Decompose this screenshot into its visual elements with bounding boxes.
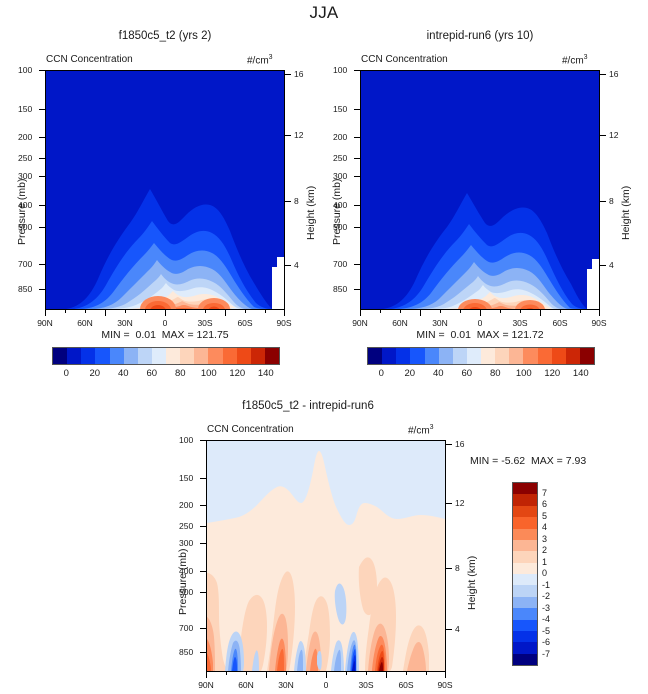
ytick-label: 150 (18, 104, 32, 114)
figure-root: JJA f1850c5_t2 (yrs 2) CCN Concentration… (0, 0, 648, 694)
axis-head-variable-top-left: CCN Concentration (46, 54, 133, 65)
colorbar-segment (110, 348, 125, 364)
colorbar-segment (180, 348, 195, 364)
colorbar-tick-label: -3 (542, 603, 550, 613)
colorbar-tick-label: 5 (542, 511, 547, 521)
contour-field-top-right (361, 71, 599, 309)
colorbar-segment (138, 348, 153, 364)
colorbar-tick-label: -7 (542, 649, 550, 659)
ytick-label: 300 (179, 538, 193, 548)
ylabel-right-diff: Height (km) (466, 556, 478, 610)
colorbar-tick-label: 80 (171, 368, 189, 379)
colorbar-segment (95, 348, 110, 364)
xtick-label: 60S (546, 318, 574, 328)
colorbar-tick-label: 60 (143, 368, 161, 379)
colorbar-tick-label: -4 (542, 614, 550, 624)
ytick-label: 250 (18, 153, 32, 163)
plot-area-top-left (45, 70, 285, 310)
ytick-label: 150 (333, 104, 347, 114)
xtick-label: 30N (272, 680, 300, 690)
colorbar-tick-label: 140 (572, 368, 590, 379)
colorbar-segment (251, 348, 266, 364)
min-value: -5.62 (501, 455, 525, 467)
colorbar-segment (552, 348, 567, 364)
colorbar-difference (512, 482, 538, 666)
colorbar-segment (81, 348, 96, 364)
panel-title-top-left: f1850c5_t2 (yrs 2) (40, 30, 290, 42)
ytick-label-right: 16 (455, 439, 464, 449)
max-label: MAX = (531, 455, 563, 467)
axis-head-units-diff: #/cm3 (408, 424, 434, 436)
ytick-label: 100 (179, 435, 193, 445)
min-value: 0.01 (451, 329, 471, 341)
colorbar-concentration-left (52, 347, 280, 365)
ytick-label-right: 8 (609, 196, 614, 206)
panel-title-diff: f1850c5_t2 - intrepid-run6 (163, 400, 453, 412)
ytick-label: 700 (18, 259, 32, 269)
minmax-top-right: MIN = 0.01 MAX = 121.72 (360, 329, 600, 341)
ytick-label: 700 (179, 623, 193, 633)
colorbar-segment (439, 348, 454, 364)
colorbar-tick-label: 40 (429, 368, 447, 379)
min-label: MIN = (416, 329, 444, 341)
ytick-label: 500 (18, 222, 32, 232)
max-value: 7.93 (566, 455, 586, 467)
contour-field-top-left (46, 71, 284, 309)
units-text: #/cm (247, 55, 269, 66)
ytick-label: 100 (18, 65, 32, 75)
colorbar-segment (166, 348, 181, 364)
axis-head-units-top-left: #/cm3 (247, 54, 273, 66)
xtick-label: 90S (270, 318, 298, 328)
ytick-label: 200 (18, 132, 32, 142)
xtick-label: 90S (585, 318, 613, 328)
ylabel-left-top-left: Pressure (mb) (16, 178, 28, 245)
axis-head-units-top-right: #/cm3 (562, 54, 588, 66)
colorbar-segment (152, 348, 167, 364)
ytick-label: 850 (179, 647, 193, 657)
colorbar-segment (368, 348, 383, 364)
colorbar-segment (237, 348, 252, 364)
ytick-label: 200 (179, 500, 193, 510)
xtick-label: 0 (466, 318, 494, 328)
ytick-label: 300 (333, 171, 347, 181)
colorbar-segment (382, 348, 397, 364)
colorbar-tick-label: 1 (542, 557, 547, 567)
colorbar-segment (208, 348, 223, 364)
ytick-label-right: 8 (294, 196, 299, 206)
ytick-label: 200 (333, 132, 347, 142)
min-label: MIN = (101, 329, 129, 341)
units-exponent: 3 (584, 54, 588, 61)
axis-head-variable-diff: CCN Concentration (207, 424, 294, 435)
max-value: 121.72 (512, 329, 544, 341)
ytick-label: 850 (18, 284, 32, 294)
colorbar-segment (467, 348, 482, 364)
xtick-label: 0 (151, 318, 179, 328)
plot-area-diff (206, 440, 446, 672)
colorbar-tick-label: -1 (542, 580, 550, 590)
min-label: MIN = (470, 455, 498, 467)
colorbar-tick-label: -6 (542, 637, 550, 647)
colorbar-segment (67, 348, 82, 364)
units-exponent: 3 (430, 424, 434, 431)
ytick-label: 700 (333, 259, 347, 269)
colorbar-tick-label: 140 (257, 368, 275, 379)
xtick-label: 90N (346, 318, 374, 328)
colorbar-segment (53, 348, 68, 364)
ytick-label: 400 (179, 566, 193, 576)
colorbar-concentration-right (367, 347, 595, 365)
ytick-label-right: 12 (455, 498, 464, 508)
colorbar-segment (223, 348, 238, 364)
ytick-label: 850 (333, 284, 347, 294)
colorbar-tick-label: 6 (542, 499, 547, 509)
colorbar-tick-label: 0 (542, 568, 547, 578)
colorbar-tick-label: 120 (543, 368, 561, 379)
xtick-label: 60N (71, 318, 99, 328)
colorbar-segment (566, 348, 581, 364)
colorbar-segment (425, 348, 440, 364)
colorbar-tick-label: 40 (114, 368, 132, 379)
colorbar-segment (523, 348, 538, 364)
min-value: 0.01 (136, 329, 156, 341)
minmax-top-left: MIN = 0.01 MAX = 121.75 (45, 329, 285, 341)
contour-field-diff (207, 441, 445, 671)
figure-title: JJA (0, 3, 648, 23)
ytick-label: 400 (18, 200, 32, 210)
colorbar-segment (453, 348, 468, 364)
ytick-label: 300 (18, 171, 32, 181)
ytick-label: 250 (333, 153, 347, 163)
ytick-label-right: 12 (609, 130, 618, 140)
colorbar-segment (396, 348, 411, 364)
ytick-label: 500 (179, 587, 193, 597)
ytick-label: 400 (333, 200, 347, 210)
xtick-label: 60N (386, 318, 414, 328)
units-text: #/cm (562, 55, 584, 66)
ylabel-left-top-right: Pressure (mb) (331, 178, 343, 245)
colorbar-segment (481, 348, 496, 364)
ytick-label-right: 8 (455, 563, 460, 573)
colorbar-segment (580, 348, 594, 364)
xtick-label: 30S (352, 680, 380, 690)
minmax-diff: MIN = -5.62 MAX = 7.93 (470, 455, 586, 467)
xtick-label: 60N (232, 680, 260, 690)
panel-title-top-right: intrepid-run6 (yrs 10) (355, 30, 605, 42)
ytick-label: 250 (179, 521, 193, 531)
ylabel-left-diff: Pressure (mb) (177, 548, 189, 615)
ytick-label: 500 (333, 222, 347, 232)
xtick-label: 60S (392, 680, 420, 690)
colorbar-segment (265, 348, 279, 364)
colorbar-tick-label: -2 (542, 591, 550, 601)
colorbar-tick-label: 0 (57, 368, 75, 379)
units-exponent: 3 (269, 54, 273, 61)
xtick-label: 0 (312, 680, 340, 690)
xtick-label: 60S (231, 318, 259, 328)
colorbar-tick-label: 2 (542, 545, 547, 555)
colorbar-tick-label: 7 (542, 488, 547, 498)
colorbar-segment (194, 348, 209, 364)
ytick-label: 100 (333, 65, 347, 75)
xtick-label: 30N (111, 318, 139, 328)
colorbar-tick-label: -5 (542, 626, 550, 636)
xtick-label: 90N (192, 680, 220, 690)
xtick-label: 30N (426, 318, 454, 328)
ytick-label-right: 16 (609, 69, 618, 79)
max-value: 121.75 (197, 329, 229, 341)
ytick-label-right: 4 (609, 260, 614, 270)
xtick-label: 90N (31, 318, 59, 328)
ytick-label-right: 4 (455, 624, 460, 634)
xtick-label: 90S (431, 680, 459, 690)
xtick-label: 30S (506, 318, 534, 328)
colorbar-tick-label: 0 (372, 368, 390, 379)
colorbar-tick-label: 20 (401, 368, 419, 379)
colorbar-tick-label: 100 (515, 368, 533, 379)
colorbar-tick-label: 3 (542, 534, 547, 544)
ylabel-right-top-right: Height (km) (620, 186, 632, 240)
axis-head-variable-top-right: CCN Concentration (361, 54, 448, 65)
ytick-label-right: 4 (294, 260, 299, 270)
ytick-label: 150 (179, 473, 193, 483)
colorbar-segment (513, 654, 537, 665)
colorbar-tick-label: 60 (458, 368, 476, 379)
colorbar-segment (124, 348, 139, 364)
colorbar-tick-label: 80 (486, 368, 504, 379)
colorbar-tick-label: 4 (542, 522, 547, 532)
ylabel-right-top-left: Height (km) (305, 186, 317, 240)
units-text: #/cm (408, 425, 430, 436)
colorbar-segment (509, 348, 524, 364)
colorbar-tick-label: 20 (86, 368, 104, 379)
colorbar-tick-label: 100 (200, 368, 218, 379)
max-label: MAX = (477, 329, 509, 341)
ytick-label-right: 12 (294, 130, 303, 140)
colorbar-tick-label: 120 (228, 368, 246, 379)
colorbar-segment (495, 348, 510, 364)
colorbar-segment (410, 348, 425, 364)
max-label: MAX = (162, 329, 194, 341)
plot-area-top-right (360, 70, 600, 310)
ytick-label-right: 16 (294, 69, 303, 79)
xtick-label: 30S (191, 318, 219, 328)
colorbar-segment (538, 348, 553, 364)
